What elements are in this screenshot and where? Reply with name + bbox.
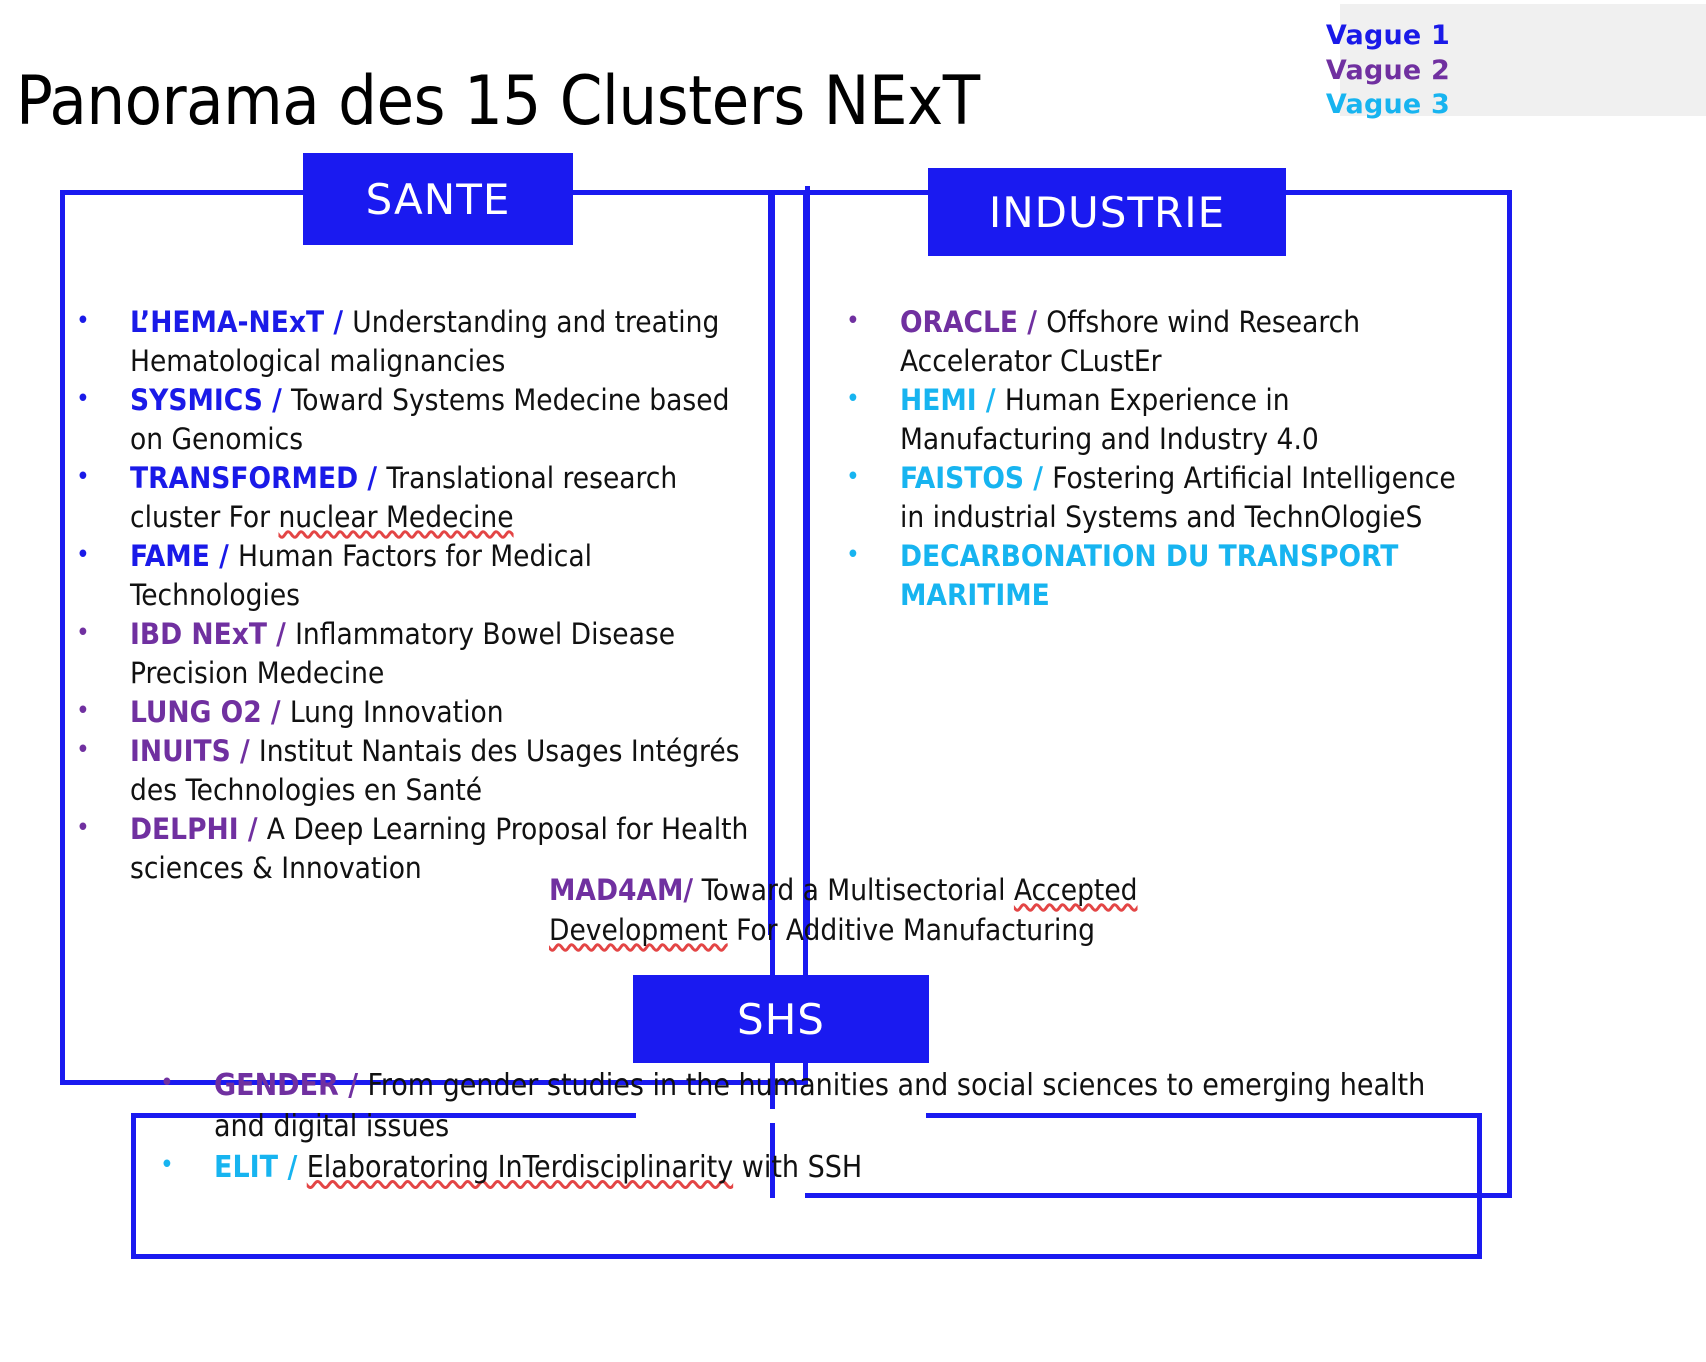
cluster-separator: / [210, 539, 238, 573]
cluster-list-item: SYSMICS / Toward Systems Medecine based … [62, 381, 762, 459]
cluster-list-item: LUNG O2 / Lung Innovation [62, 693, 762, 732]
crosscutting-key: MAD4AM [549, 873, 683, 907]
page-title: Panorama des 15 Clusters NExT [16, 62, 980, 141]
cluster-acronym: DECARBONATION DU TRANSPORT MARITIME [900, 539, 1398, 612]
cluster-acronym: FAISTOS [900, 461, 1024, 495]
pillar-tab-industrie-label: INDUSTRIE [989, 188, 1225, 237]
cluster-list-item: L’HEMA-NExT / Understanding and treating… [62, 303, 762, 381]
pillar-tab-sante-label: SANTE [366, 175, 511, 224]
pillar-divider-left [768, 190, 773, 935]
cluster-separator: / [358, 461, 386, 495]
cluster-acronym: GENDER [214, 1068, 339, 1103]
cluster-list-item: FAISTOS / Fostering Artificial Intellige… [832, 459, 1482, 537]
pillar-tab-sante[interactable]: SANTE [303, 153, 573, 245]
wave-legend: Vague 1 Vague 2 Vague 3 [1340, 4, 1706, 116]
cluster-description-misspelled: nuclear Medecine [278, 500, 513, 534]
cluster-separator: / [231, 734, 259, 768]
industrie-cluster-list: ORACLE / Offshore wind Research Accelera… [832, 303, 1482, 615]
sante-cluster-list: L’HEMA-NExT / Understanding and treating… [62, 303, 762, 888]
cluster-acronym: SYSMICS [130, 383, 263, 417]
cluster-description: From gender studies in the humanities an… [214, 1068, 1425, 1144]
cluster-separator: / [1018, 305, 1046, 339]
legend-item-vague-2: Vague 2 [1326, 55, 1450, 86]
cluster-list-item: FAME / Human Factors for Medical Technol… [62, 537, 762, 615]
cluster-separator: / [267, 617, 295, 651]
pillar-tab-shs-label: SHS [737, 995, 825, 1044]
cluster-acronym: TRANSFORMED [130, 461, 358, 495]
cluster-list-item: HEMI / Human Experience in Manufacturing… [832, 381, 1482, 459]
cluster-separator: / [324, 305, 352, 339]
cluster-list-item: INUITS / Institut Nantais des Usages Int… [62, 732, 762, 810]
legend-item-vague-1: Vague 1 [1326, 20, 1450, 51]
cluster-separator: / [239, 812, 267, 846]
cluster-separator: / [263, 383, 291, 417]
crosscutting-desc-a: Toward a Multisectorial [702, 873, 1014, 907]
cluster-description-misspelled: Elaboratoring InTerdisciplinarity [307, 1150, 733, 1185]
legend-item-vague-3: Vague 3 [1326, 89, 1450, 120]
cluster-description: Lung Innovation [290, 695, 504, 729]
crosscutting-desc-c: For Additive Manufacturing [728, 913, 1095, 947]
cluster-list-item: ORACLE / Offshore wind Research Accelera… [832, 303, 1482, 381]
cluster-separator: / [262, 695, 290, 729]
cluster-separator: / [278, 1150, 307, 1185]
shs-cluster-list: GENDER / From gender studies in the huma… [146, 1065, 1466, 1188]
pillar-tab-industrie[interactable]: INDUSTRIE [928, 168, 1286, 256]
crosscutting-desc-misspelled-b: Development [549, 913, 728, 947]
cluster-separator: / [339, 1068, 368, 1103]
page-title-text: Panorama des 15 Clusters NExT [16, 62, 980, 141]
cluster-acronym: INUITS [130, 734, 231, 768]
crosscutting-desc-misspelled-a: Accepted [1014, 873, 1138, 907]
crosscutting-separator: / [683, 873, 693, 907]
cluster-description-tail: with SSH [733, 1150, 862, 1185]
cluster-separator: / [977, 383, 1005, 417]
cluster-acronym: ORACLE [900, 305, 1018, 339]
pillar-tab-shs[interactable]: SHS [633, 975, 929, 1063]
cluster-list-item: ELIT / Elaboratoring InTerdisciplinarity… [146, 1147, 1466, 1188]
cluster-acronym: FAME [130, 539, 210, 573]
cluster-separator: / [1024, 461, 1052, 495]
cluster-acronym: IBD NExT [130, 617, 267, 651]
cluster-acronym: HEMI [900, 383, 977, 417]
cluster-acronym: L’HEMA-NExT [130, 305, 324, 339]
cluster-list-item: TRANSFORMED / Translational research clu… [62, 459, 762, 537]
cluster-acronym: LUNG O2 [130, 695, 262, 729]
cluster-acronym: DELPHI [130, 812, 239, 846]
crosscutting-cluster-mad4am: MAD4AM/ Toward a Multisectorial Accepted… [549, 870, 1229, 950]
pillar-divider-right [805, 186, 810, 935]
cluster-acronym: ELIT [214, 1150, 278, 1185]
cluster-list-item: DECARBONATION DU TRANSPORT MARITIME [832, 537, 1482, 615]
cluster-list-item: IBD NExT / Inflammatory Bowel Disease Pr… [62, 615, 762, 693]
cluster-list-item: GENDER / From gender studies in the huma… [146, 1065, 1466, 1147]
